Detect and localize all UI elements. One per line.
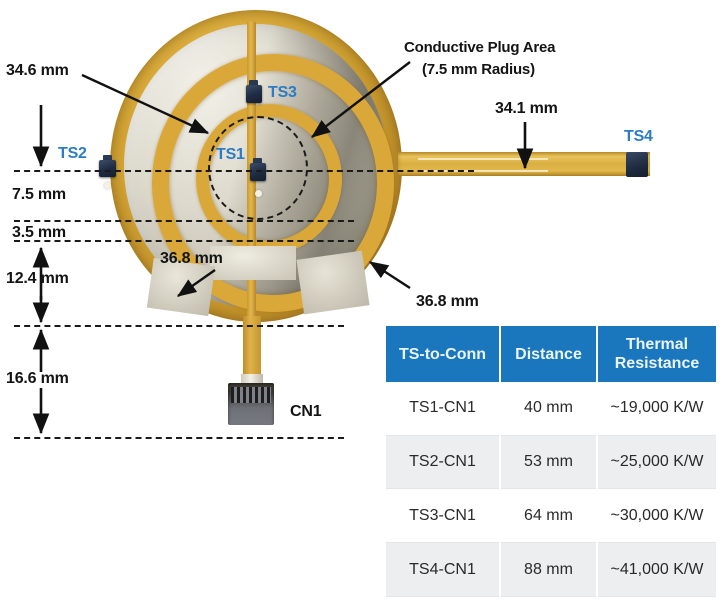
thermal-resistance-table: TS-to-Conn Distance Thermal Resistance T… — [386, 326, 716, 597]
dimension-label-34-6mm: 34.6 mm — [6, 62, 69, 80]
flex-arm-trace-upper — [418, 158, 548, 160]
ts3-sensor-chip — [246, 85, 262, 103]
dashed-line-plug-lower — [14, 220, 354, 222]
table-row: TS1-CN140 mm~19,000 K/W — [386, 382, 716, 435]
table-row: TS3-CN164 mm~30,000 K/W — [386, 489, 716, 543]
connector-label-cn1: CN1 — [290, 403, 321, 421]
sensor-label-ts2: TS2 — [58, 145, 87, 163]
dimension-label-36-8mm-right: 36.8 mm — [416, 293, 479, 311]
table-header-ts-to-conn: TS-to-Conn — [386, 326, 500, 382]
table-cell-resistance: ~19,000 K/W — [597, 382, 716, 435]
table-body: TS1-CN140 mm~19,000 K/WTS2-CN153 mm~25,0… — [386, 382, 716, 597]
table-cell-distance: 53 mm — [500, 435, 597, 489]
plug-area-note-line1: Conductive Plug Area — [404, 38, 555, 58]
sensor-label-ts1: TS1 — [216, 146, 245, 164]
table-cell-resistance: ~30,000 K/W — [597, 489, 716, 543]
table-cell-pair: TS1-CN1 — [386, 382, 500, 435]
dimension-label-36-8mm-left: 36.8 mm — [160, 250, 223, 268]
ts4-sensor-chip — [626, 152, 648, 177]
dashed-line-cn1-bottom — [14, 437, 344, 439]
dashed-line-ts2-axis — [14, 170, 474, 172]
table-header-row: TS-to-Conn Distance Thermal Resistance — [386, 326, 716, 382]
flex-arm-ts4 — [398, 152, 650, 176]
pcb-trace-gap-center — [210, 246, 296, 280]
table-cell-distance: 88 mm — [500, 543, 597, 597]
sensor-label-ts4: TS4 — [624, 128, 653, 146]
ts1-sensor-chip — [250, 163, 266, 181]
sensor-label-ts3: TS3 — [268, 84, 297, 102]
cn1-connector-pins — [231, 387, 271, 403]
table-cell-resistance: ~25,000 K/W — [597, 435, 716, 489]
table-cell-distance: 40 mm — [500, 382, 597, 435]
dimension-label-34-1mm: 34.1 mm — [495, 100, 558, 118]
pcb-trace-gap-right — [296, 251, 369, 315]
dimension-label-12-4mm: 12.4 mm — [6, 270, 69, 288]
pcb-via-center — [255, 190, 262, 197]
table-cell-resistance: ~41,000 K/W — [597, 543, 716, 597]
dimension-label-7-5mm: 7.5 mm — [12, 186, 66, 204]
dashed-line-disc-bottom — [14, 325, 344, 327]
table-header-thermal-resistance: Thermal Resistance — [597, 326, 716, 382]
table-row: TS2-CN153 mm~25,000 K/W — [386, 435, 716, 489]
pcb-via-left — [104, 182, 111, 189]
dimension-label-3-5mm: 3.5 mm — [12, 224, 66, 242]
table-cell-pair: TS2-CN1 — [386, 435, 500, 489]
table-row: TS4-CN188 mm~41,000 K/W — [386, 543, 716, 597]
table-cell-pair: TS4-CN1 — [386, 543, 500, 597]
table-cell-distance: 64 mm — [500, 489, 597, 543]
table-header-distance: Distance — [500, 326, 597, 382]
plug-area-note-line2: (7.5 mm Radius) — [422, 60, 535, 80]
table-cell-pair: TS3-CN1 — [386, 489, 500, 543]
figure-canvas: 34.6 mm 7.5 mm 3.5 mm 12.4 mm 16.6 mm 36… — [0, 0, 724, 605]
ts2-sensor-chip — [99, 160, 116, 177]
dimension-label-16-6mm: 16.6 mm — [6, 370, 69, 388]
